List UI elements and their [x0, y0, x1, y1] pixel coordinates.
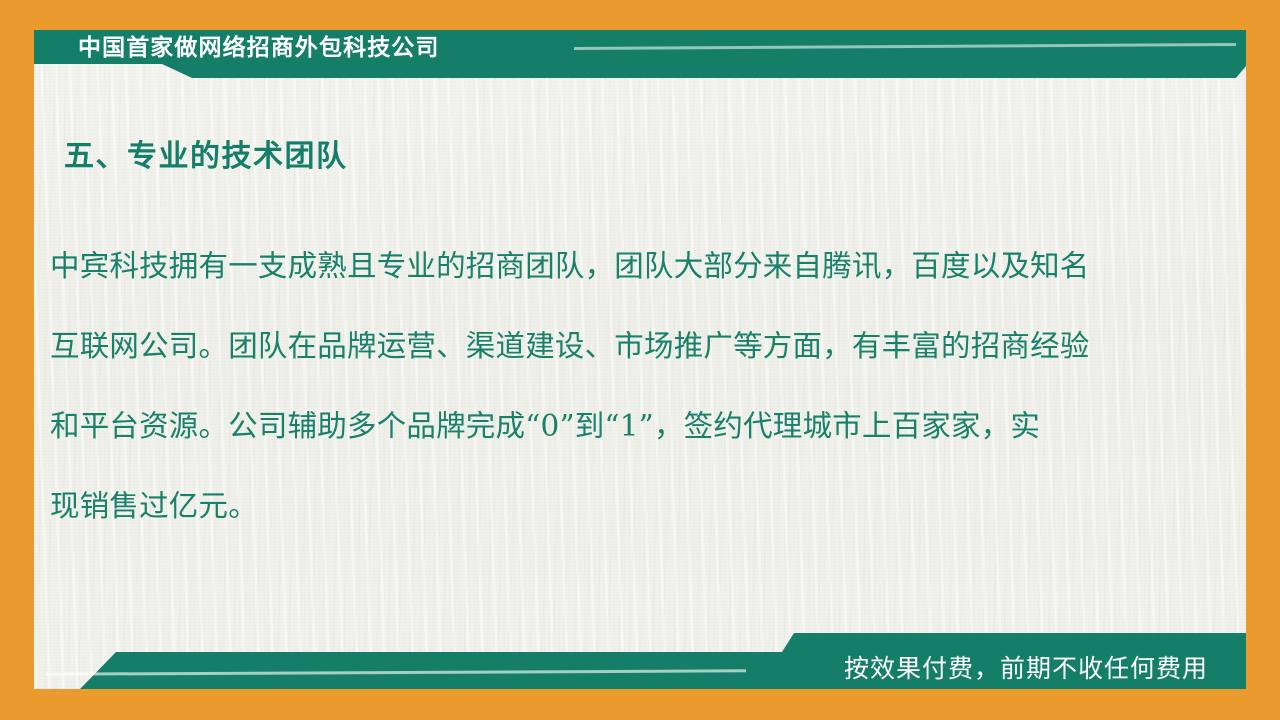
- slide-header: 中国首家做网络招商外包科技公司: [34, 30, 1246, 92]
- paragraph-line: 现销售过亿元。: [50, 466, 1190, 546]
- header-title: 中国首家做网络招商外包科技公司: [78, 30, 440, 64]
- footer-slogan: 按效果付费，前期不收任何费用: [844, 649, 1208, 685]
- section-paragraph: 中宾科技拥有一支成熟且专业的招商团队，团队大部分来自腾讯，百度以及知名 互联网公…: [50, 226, 1190, 546]
- section-heading: 五、专业的技术团队: [64, 131, 348, 175]
- slide-footer: 按效果付费，前期不收任何费用: [34, 633, 1246, 689]
- presentation-slide: 中国首家做网络招商外包科技公司 五、专业的技术团队 中宾科技拥有一支成熟且专业的…: [0, 0, 1280, 720]
- paragraph-line: 互联网公司。团队在品牌运营、渠道建设、市场推广等方面，有丰富的招商经验: [50, 306, 1190, 386]
- paragraph-line: 和平台资源。公司辅助多个品牌完成“0”到“1”，签约代理城市上百家家，实: [50, 386, 1190, 466]
- paragraph-line: 中宾科技拥有一支成熟且专业的招商团队，团队大部分来自腾讯，百度以及知名: [50, 226, 1190, 306]
